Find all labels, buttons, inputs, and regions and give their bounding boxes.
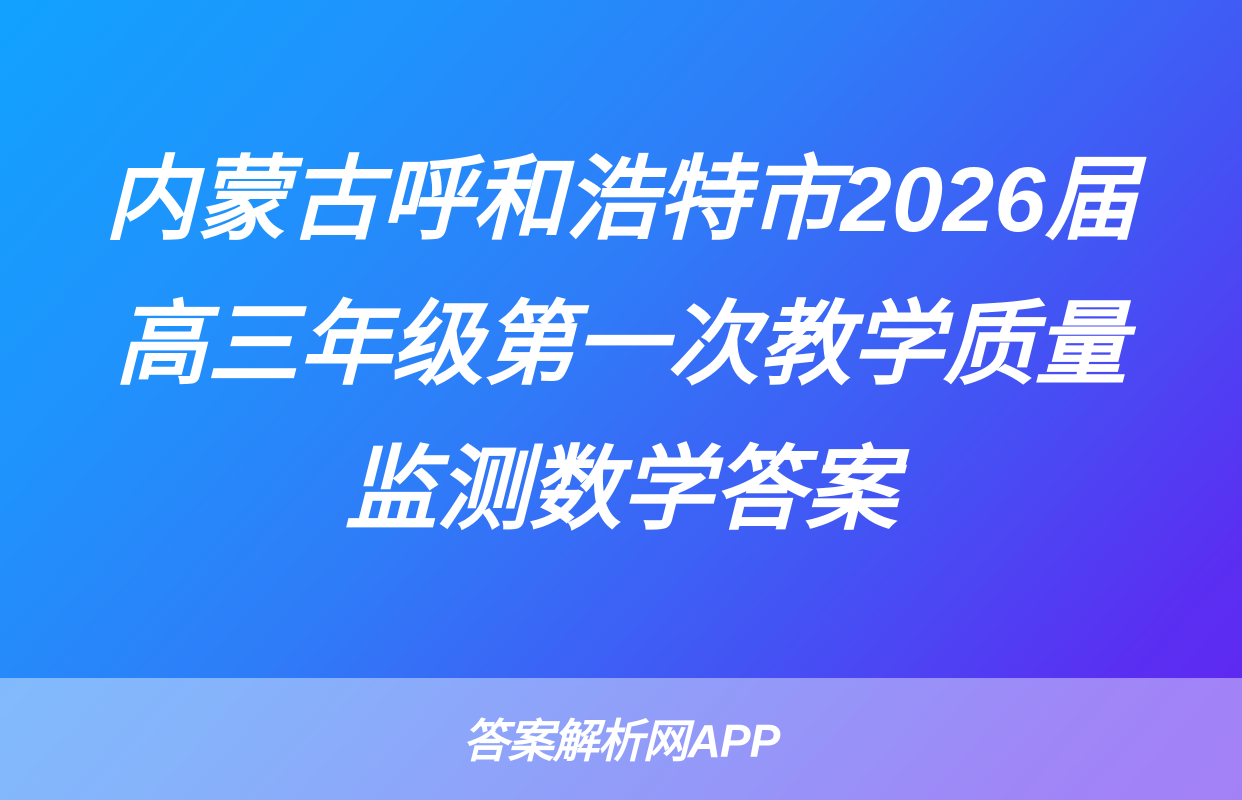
footer-brand-label: 答案解析网APP [463, 718, 780, 764]
poster-canvas: 内蒙古呼和浩特市2026届高三年级第一次教学质量监测数学答案 答案解析网APP [0, 0, 1242, 800]
page-title: 内蒙古呼和浩特市2026届高三年级第一次教学质量监测数学答案 [101, 128, 1141, 563]
footer-brand-band: 答案解析网APP [0, 678, 1242, 800]
headline-region: 内蒙古呼和浩特市2026届高三年级第一次教学质量监测数学答案 [0, 0, 1242, 678]
